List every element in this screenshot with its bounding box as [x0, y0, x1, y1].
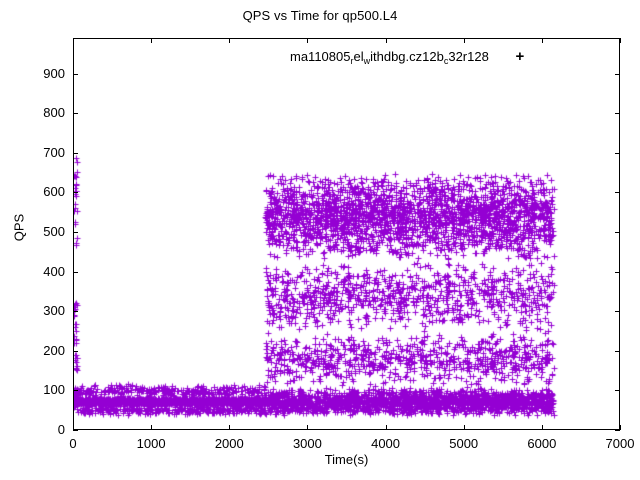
y-axis-tick-label: 400 [11, 264, 65, 279]
x-axis-tick-mark [464, 425, 465, 430]
x-axis-tick-mark [542, 38, 543, 43]
x-axis-tick-mark [229, 38, 230, 43]
y-axis-tick-mark [615, 390, 620, 391]
y-axis-tick-mark [73, 272, 78, 273]
scatter-plot-canvas [74, 39, 620, 430]
chart-title: QPS vs Time for qp500.L4 [0, 8, 640, 23]
x-axis-tick-mark [464, 38, 465, 43]
y-axis-tick-mark [73, 430, 78, 431]
x-axis-tick-mark [151, 38, 152, 43]
x-axis-tick-label: 4000 [356, 436, 416, 451]
y-axis-tick-mark [615, 192, 620, 193]
legend-marker-sample: + [489, 49, 551, 64]
y-axis-tick-mark [73, 390, 78, 391]
qps-vs-time-chart: QPS vs Time for qp500.L4 ma110805relwith… [0, 0, 640, 480]
x-axis-tick-label: 3000 [277, 436, 337, 451]
y-axis-tick-label: 300 [11, 303, 65, 318]
x-axis-title: Time(s) [73, 452, 620, 467]
y-axis-tick-mark [615, 113, 620, 114]
y-axis-tick-mark [73, 153, 78, 154]
x-axis-tick-label: 1000 [121, 436, 181, 451]
x-axis-tick-mark [620, 38, 621, 43]
x-axis-tick-label: 2000 [199, 436, 259, 451]
y-axis-tick-mark [73, 232, 78, 233]
y-axis-tick-label: 800 [11, 105, 65, 120]
x-axis-tick-mark [229, 425, 230, 430]
y-axis-tick-mark [615, 351, 620, 352]
y-axis-tick-label: 900 [11, 66, 65, 81]
y-axis-tick-mark [615, 232, 620, 233]
x-axis-tick-label: 0 [43, 436, 103, 451]
y-axis-tick-label: 0 [11, 422, 65, 437]
x-axis-tick-mark [620, 425, 621, 430]
x-axis-tick-mark [386, 425, 387, 430]
y-axis-tick-mark [73, 311, 78, 312]
y-axis-tick-mark [615, 272, 620, 273]
y-axis-tick-mark [615, 311, 620, 312]
x-axis-tick-label: 6000 [512, 436, 572, 451]
y-axis-tick-mark [615, 430, 620, 431]
x-axis-tick-mark [73, 425, 74, 430]
y-axis-tick-mark [615, 153, 620, 154]
x-axis-tick-mark [73, 38, 74, 43]
x-axis-tick-mark [542, 425, 543, 430]
x-axis-tick-label: 7000 [590, 436, 640, 451]
x-axis-tick-mark [386, 38, 387, 43]
y-axis-tick-label: 600 [11, 184, 65, 199]
y-axis-tick-label: 500 [11, 224, 65, 239]
x-axis-tick-mark [307, 425, 308, 430]
x-axis-tick-mark [151, 425, 152, 430]
legend-series-label: ma110805relwithdbg.cz12bc32r128 [290, 50, 489, 63]
y-axis-tick-mark [73, 113, 78, 114]
y-axis-tick-mark [73, 74, 78, 75]
y-axis-tick-label: 200 [11, 343, 65, 358]
legend: ma110805relwithdbg.cz12bc32r128 + [290, 45, 551, 67]
plot-area [73, 38, 620, 430]
y-axis-tick-mark [73, 351, 78, 352]
y-axis-tick-mark [615, 74, 620, 75]
y-axis-tick-label: 700 [11, 145, 65, 160]
y-axis-tick-mark [73, 192, 78, 193]
x-axis-tick-mark [307, 38, 308, 43]
x-axis-tick-label: 5000 [434, 436, 494, 451]
y-axis-tick-label: 100 [11, 382, 65, 397]
